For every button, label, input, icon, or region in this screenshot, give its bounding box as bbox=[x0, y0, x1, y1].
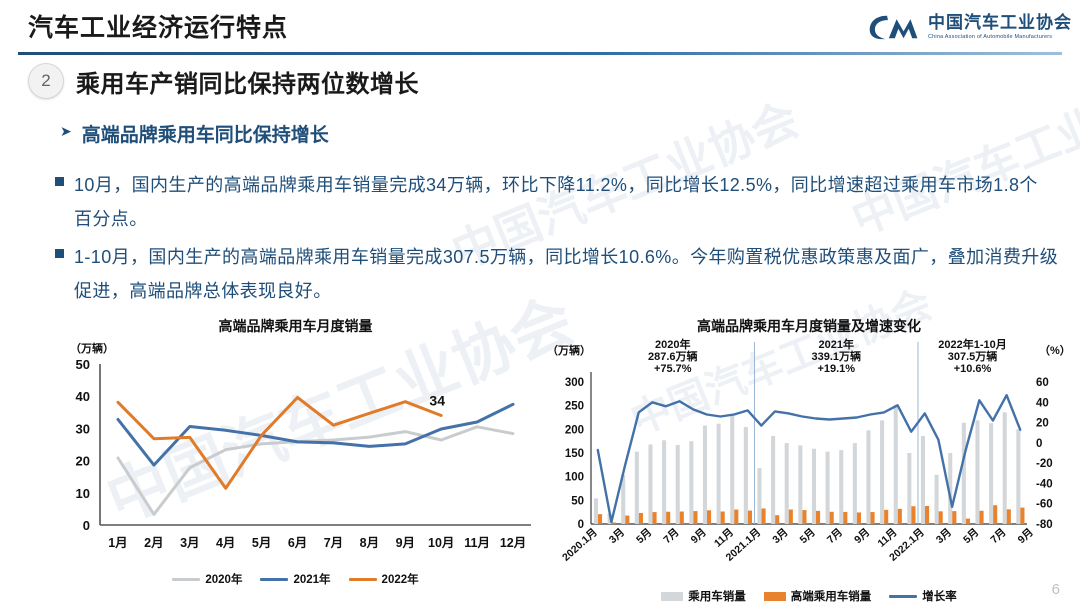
svg-text:-20: -20 bbox=[1036, 458, 1053, 470]
logo-text-cn: 中国汽车工业协会 bbox=[928, 14, 1072, 31]
svg-text:2月: 2月 bbox=[144, 536, 163, 550]
arrow-icon: ➤ bbox=[60, 120, 72, 142]
svg-text:4月: 4月 bbox=[216, 536, 235, 550]
bullet-item-1: 10月，国内生产的高端品牌乘用车销量完成34万辆，环比下降11.2%，同比增长1… bbox=[55, 168, 1055, 236]
svg-text:100: 100 bbox=[565, 472, 584, 484]
legend-label: 乘用车销量 bbox=[688, 588, 746, 604]
svg-text:7月: 7月 bbox=[661, 526, 681, 546]
legend-item: 2022年 bbox=[349, 571, 419, 587]
svg-text:2021年: 2021年 bbox=[819, 337, 854, 351]
svg-text:6月: 6月 bbox=[288, 536, 307, 550]
svg-text:3月: 3月 bbox=[180, 536, 199, 550]
svg-text:7月: 7月 bbox=[988, 526, 1008, 546]
legend-swatch bbox=[349, 578, 377, 581]
svg-text:10: 10 bbox=[76, 486, 90, 501]
svg-text:287.6万辆: 287.6万辆 bbox=[648, 349, 698, 363]
legend-label: 2020年 bbox=[205, 571, 242, 587]
svg-text:11月: 11月 bbox=[464, 536, 490, 550]
square-bullet-icon bbox=[55, 177, 64, 186]
section-title: 乘用车产销同比保持两位数增长 bbox=[76, 64, 419, 99]
svg-text:2020年: 2020年 bbox=[655, 337, 690, 351]
svg-text:30: 30 bbox=[76, 421, 90, 436]
chart-monthly-premium-sales: 高端品牌乘用车月度销量 （万辆） 01020304050341月2月3月4月5月… bbox=[48, 316, 543, 601]
svg-text:8月: 8月 bbox=[360, 536, 379, 550]
svg-text:9月: 9月 bbox=[689, 526, 709, 546]
svg-text:0: 0 bbox=[578, 519, 584, 531]
page-header: 汽车工业经济运行特点 中国汽车工业协会 China Association of… bbox=[0, 0, 1080, 55]
bullet-lead: ➤ 高端品牌乘用车同比保持增长 bbox=[60, 120, 329, 147]
svg-text:10月: 10月 bbox=[428, 536, 454, 550]
page-title: 汽车工业经济运行特点 bbox=[28, 8, 288, 44]
legend-swatch bbox=[172, 578, 200, 581]
legend-label: 增长率 bbox=[922, 588, 957, 604]
chart-right-legend: 乘用车销量高端乘用车销量增长率 bbox=[545, 588, 1073, 604]
legend-swatch bbox=[764, 592, 786, 601]
svg-text:-40: -40 bbox=[1036, 478, 1053, 490]
svg-text:+19.1%: +19.1% bbox=[817, 363, 855, 375]
svg-text:2022年1-10月: 2022年1-10月 bbox=[938, 337, 1007, 351]
svg-text:0: 0 bbox=[1036, 438, 1042, 450]
svg-text:60: 60 bbox=[1036, 377, 1049, 389]
svg-text:5月: 5月 bbox=[961, 526, 981, 546]
svg-text:2020.1月: 2020.1月 bbox=[560, 526, 600, 563]
svg-text:5月: 5月 bbox=[252, 536, 271, 550]
svg-text:（%）: （%） bbox=[1039, 344, 1071, 357]
legend-item: 增长率 bbox=[889, 588, 957, 604]
svg-text:3月: 3月 bbox=[607, 526, 627, 546]
legend-label: 2021年 bbox=[293, 571, 330, 587]
caam-logo-mark bbox=[868, 12, 920, 42]
svg-text:20: 20 bbox=[76, 454, 90, 469]
bullet-lead-text: 高端品牌乘用车同比保持增长 bbox=[82, 120, 329, 147]
svg-text:0: 0 bbox=[83, 518, 90, 533]
chart-right-plot: （万辆）（%）050100150200250300-80-60-40-20020… bbox=[545, 336, 1073, 586]
legend-item: 乘用车销量 bbox=[661, 588, 746, 604]
svg-text:-60: -60 bbox=[1036, 499, 1053, 511]
logo-text-en: China Association of Automobile Manufact… bbox=[928, 35, 1072, 41]
svg-text:200: 200 bbox=[565, 424, 584, 436]
chart-left-plot: 01020304050341月2月3月4月5月6月7月8月9月10月11月12月 bbox=[48, 356, 543, 571]
svg-text:5月: 5月 bbox=[634, 526, 654, 546]
svg-text:+75.7%: +75.7% bbox=[654, 363, 692, 375]
svg-text:3月: 3月 bbox=[934, 526, 954, 546]
svg-text:34: 34 bbox=[429, 393, 445, 409]
square-bullet-icon bbox=[55, 249, 64, 258]
legend-swatch bbox=[889, 595, 917, 598]
caam-logo: 中国汽车工业协会 China Association of Automobile… bbox=[868, 6, 1072, 48]
legend-item: 高端乘用车销量 bbox=[764, 588, 872, 604]
header-divider bbox=[18, 52, 1062, 55]
svg-text:250: 250 bbox=[565, 401, 584, 413]
section-number-badge: 2 bbox=[28, 63, 64, 99]
svg-text:7月: 7月 bbox=[825, 526, 845, 546]
svg-text:50: 50 bbox=[571, 495, 584, 507]
svg-text:40: 40 bbox=[76, 389, 90, 404]
svg-text:12月: 12月 bbox=[500, 536, 526, 550]
legend-item: 2020年 bbox=[172, 571, 242, 587]
svg-text:307.5万辆: 307.5万辆 bbox=[948, 349, 998, 363]
bullet-item-1-text: 10月，国内生产的高端品牌乘用车销量完成34万辆，环比下降11.2%，同比增长1… bbox=[74, 168, 1055, 236]
svg-text:339.1万辆: 339.1万辆 bbox=[811, 349, 861, 363]
legend-item: 2021年 bbox=[260, 571, 330, 587]
svg-text:5月: 5月 bbox=[798, 526, 818, 546]
bullet-item-2-text: 1-10月，国内生产的高端品牌乘用车销量完成307.5万辆，同比增长10.6%。… bbox=[74, 240, 1065, 308]
chart-right-title: 高端品牌乘用车月度销量及增速变化 bbox=[545, 316, 1073, 336]
legend-swatch bbox=[661, 592, 683, 601]
chart-left-y-unit: （万辆） bbox=[70, 340, 543, 356]
legend-label: 高端乘用车销量 bbox=[791, 588, 872, 604]
svg-text:40: 40 bbox=[1036, 397, 1049, 409]
svg-text:+10.6%: +10.6% bbox=[954, 363, 992, 375]
legend-swatch bbox=[260, 578, 288, 581]
svg-text:（万辆）: （万辆） bbox=[547, 343, 591, 357]
svg-text:50: 50 bbox=[76, 357, 90, 372]
svg-text:-80: -80 bbox=[1036, 519, 1053, 531]
svg-text:300: 300 bbox=[565, 377, 584, 389]
page-number: 6 bbox=[1052, 581, 1060, 598]
chart-left-legend: 2020年2021年2022年 bbox=[48, 571, 543, 587]
svg-text:150: 150 bbox=[565, 448, 584, 460]
svg-text:9月: 9月 bbox=[396, 536, 415, 550]
svg-text:9月: 9月 bbox=[852, 526, 872, 546]
chart-left-title: 高端品牌乘用车月度销量 bbox=[48, 316, 543, 336]
legend-label: 2022年 bbox=[382, 571, 419, 587]
chart-sales-and-growth: 高端品牌乘用车月度销量及增速变化 （万辆）（%）0501001502002503… bbox=[545, 316, 1073, 601]
svg-text:1月: 1月 bbox=[108, 536, 127, 550]
svg-text:9月: 9月 bbox=[1016, 526, 1036, 546]
bullet-item-2: 1-10月，国内生产的高端品牌乘用车销量完成307.5万辆，同比增长10.6%。… bbox=[55, 240, 1065, 308]
svg-text:7月: 7月 bbox=[324, 536, 343, 550]
section-heading: 2 乘用车产销同比保持两位数增长 bbox=[28, 63, 419, 99]
svg-text:20: 20 bbox=[1036, 418, 1049, 430]
svg-text:3月: 3月 bbox=[770, 526, 790, 546]
